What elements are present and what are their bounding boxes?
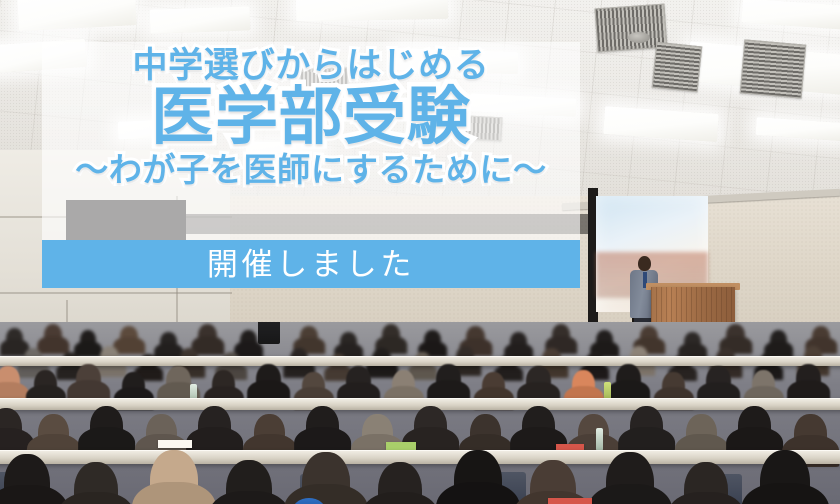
handout-paper bbox=[548, 498, 592, 504]
water-bottle bbox=[596, 428, 603, 452]
ceiling-speaker-icon bbox=[628, 32, 650, 43]
headline-line-2: 医学部受験 bbox=[151, 86, 471, 149]
desk-row bbox=[0, 356, 840, 366]
ceiling-light-panel bbox=[150, 6, 251, 33]
seminar-banner: 中学選びからはじめる 医学部受験 〜わが子を医師にするために〜 開催しました bbox=[0, 0, 840, 504]
cta-label: 開催しました bbox=[207, 249, 415, 280]
speaker-head bbox=[638, 256, 651, 271]
ceiling-air-vent bbox=[652, 42, 703, 93]
cta-banner: 開催しました bbox=[42, 240, 580, 288]
cameraman bbox=[258, 322, 280, 344]
handout-paper bbox=[158, 440, 192, 448]
ceiling-light-panel bbox=[296, 0, 448, 21]
wall-seam bbox=[0, 292, 232, 294]
ceiling-air-vent bbox=[740, 39, 806, 98]
audience-area bbox=[0, 322, 840, 504]
headline-line-3: 〜わが子を医師にするために〜 bbox=[75, 153, 547, 186]
desk-row bbox=[0, 450, 840, 464]
headline-line-1: 中学選びからはじめる bbox=[132, 48, 489, 83]
headline-block: 中学選びからはじめる 医学部受験 〜わが子を医師にするために〜 bbox=[42, 42, 580, 242]
handout-paper bbox=[386, 442, 416, 450]
